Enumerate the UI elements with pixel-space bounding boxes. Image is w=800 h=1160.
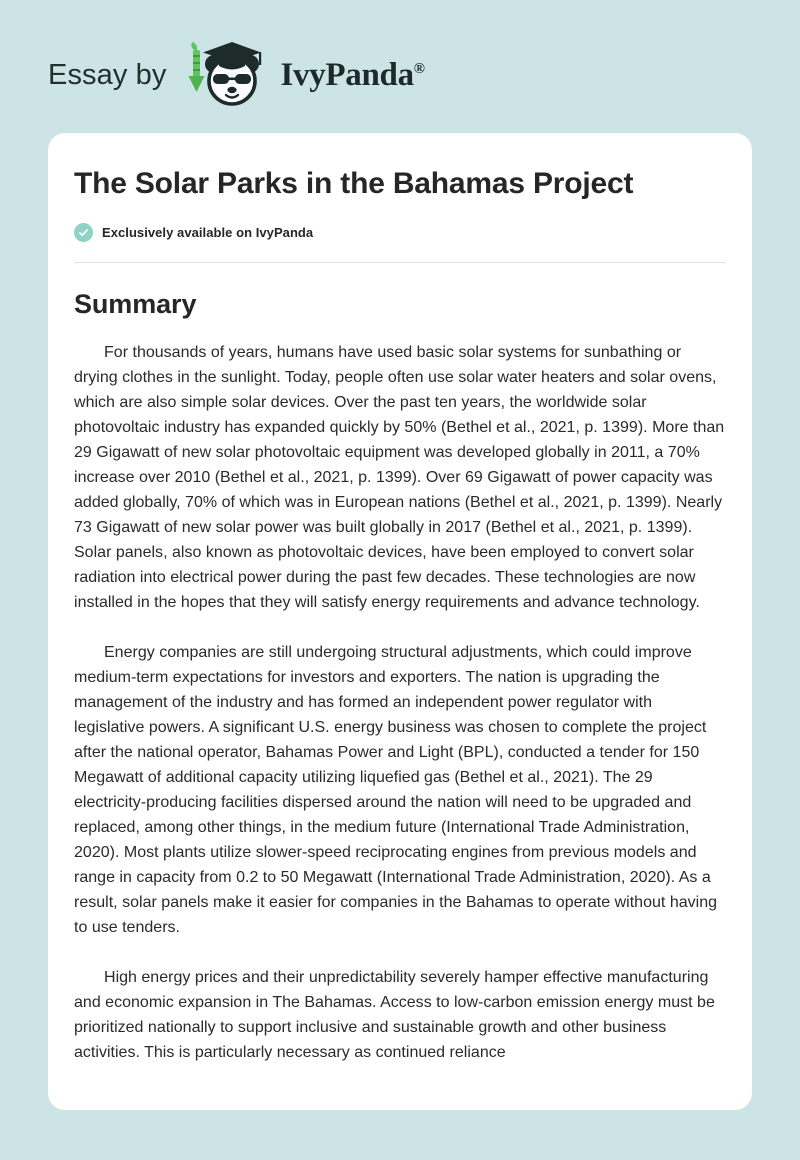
exclusive-availability-badge: Exclusively available on IvyPanda <box>74 223 726 242</box>
essay-paper-card: The Solar Parks in the Bahamas Project E… <box>48 133 752 1110</box>
ivypanda-wordmark: IvyPanda® <box>280 59 424 92</box>
essay-by-label: Essay by <box>48 61 166 90</box>
brand-name-text: IvyPanda <box>280 57 413 93</box>
section-heading-summary: Summary <box>74 288 726 320</box>
body-paragraph: High energy prices and their unpredictab… <box>74 965 726 1065</box>
ivypanda-panda-graduate-logo-icon <box>182 42 278 108</box>
card-content: The Solar Parks in the Bahamas Project E… <box>48 133 752 1065</box>
header-divider <box>74 262 726 263</box>
brand-header: Essay by <box>48 40 752 110</box>
ivypanda-logo-link[interactable]: IvyPanda® <box>182 42 424 108</box>
page-title: The Solar Parks in the Bahamas Project <box>74 166 726 203</box>
exclusive-badge-label: Exclusively available on IvyPanda <box>102 226 313 239</box>
body-paragraph: Energy companies are still undergoing st… <box>74 640 726 940</box>
registered-mark: ® <box>414 61 425 77</box>
check-circle-icon <box>74 223 93 242</box>
body-paragraph: For thousands of years, humans have used… <box>74 340 726 615</box>
